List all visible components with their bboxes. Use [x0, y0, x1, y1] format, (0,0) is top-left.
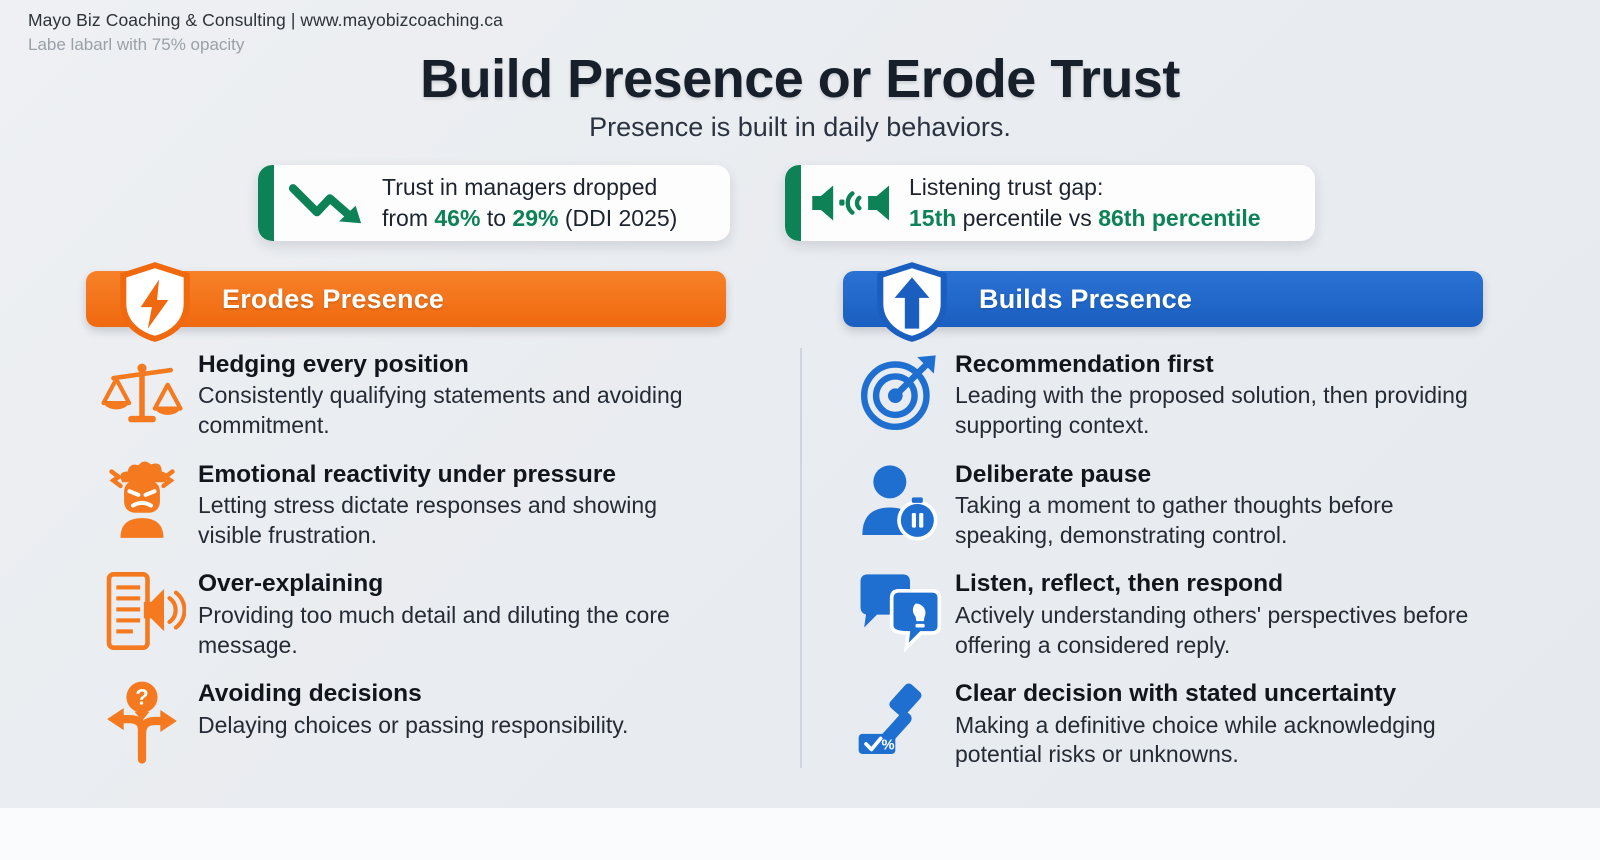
page-subtitle: Presence is built in daily behaviors.: [0, 112, 1600, 143]
stat-source: (DDI 2025): [558, 205, 677, 231]
list-item-title: Avoiding decisions: [198, 680, 628, 708]
list-item: Emotional reactivity under pressure Lett…: [86, 454, 726, 551]
column-divider: [800, 348, 802, 768]
balance-scale-icon: [86, 344, 198, 440]
person-pause-stopwatch-icon: [843, 454, 955, 550]
stat-value-to: 29%: [512, 205, 558, 231]
stat-card-trust-drop: Trust in managers dropped from 46% to 29…: [258, 165, 730, 241]
list-item-title: Over-explaining: [198, 570, 723, 598]
speech-bubbles-lightbulb-icon: [843, 563, 955, 659]
section-banner-label: Builds Presence: [979, 284, 1192, 315]
list-item: % Clear decision with stated uncertainty…: [843, 673, 1483, 770]
section-banner-erodes: Erodes Presence: [86, 271, 726, 327]
footer-strip: [0, 808, 1600, 860]
fork-road-question-icon: ?: [86, 673, 198, 769]
infographic-canvas: Mayo Biz Coaching & Consulting | www.may…: [0, 0, 1600, 860]
list-item: Recommendation first Leading with the pr…: [843, 344, 1483, 441]
shield-lightning-icon: [114, 259, 196, 345]
shield-arrow-up-icon: [871, 259, 953, 345]
list-item-title: Hedging every position: [198, 351, 723, 379]
stat-card-text: Listening trust gap: 15th percentile vs …: [909, 172, 1261, 233]
list-item-title: Recommendation first: [955, 351, 1480, 379]
page-title: Build Presence or Erode Trust: [0, 48, 1600, 110]
stat-line-1: Trust in managers dropped: [382, 174, 657, 200]
svg-text:?: ?: [135, 685, 148, 710]
list-item-description: Taking a moment to gather thoughts befor…: [955, 491, 1480, 550]
stat-line-2-prefix: from: [382, 205, 434, 231]
list-item-title: Emotional reactivity under pressure: [198, 461, 723, 489]
list-item-description: Letting stress dictate responses and sho…: [198, 491, 723, 550]
list-item-title: Clear decision with stated uncertainty: [955, 680, 1480, 708]
stat-value-high: 86th percentile: [1098, 205, 1260, 231]
list-item: Hedging every position Consistently qual…: [86, 344, 726, 441]
stat-card-accent-bar: [785, 165, 801, 241]
stat-mid: percentile vs: [956, 205, 1098, 231]
section-banner-builds: Builds Presence: [843, 271, 1483, 327]
list-item: ? Avoiding decisions Delaying choices or…: [86, 673, 726, 769]
list-item-body: Over-explaining Providing too much detai…: [198, 563, 723, 660]
erodes-presence-list: Hedging every position Consistently qual…: [86, 344, 726, 782]
list-item-description: Making a definitive choice while acknowl…: [955, 711, 1480, 770]
list-item-body: Clear decision with stated uncertainty M…: [955, 673, 1480, 770]
list-item-description: Consistently qualifying statements and a…: [198, 381, 723, 440]
list-item-body: Listen, reflect, then respond Actively u…: [955, 563, 1480, 660]
list-item-body: Deliberate pause Taking a moment to gath…: [955, 454, 1480, 551]
list-item-title: Listen, reflect, then respond: [955, 570, 1480, 598]
list-item-description: Leading with the proposed solution, then…: [955, 381, 1480, 440]
stat-mid: to: [480, 205, 512, 231]
stat-value-low: 15th: [909, 205, 956, 231]
trend-down-arrow-icon: [280, 175, 376, 231]
stat-card-listening-gap: Listening trust gap: 15th percentile vs …: [785, 165, 1315, 241]
target-arrow-icon: [843, 344, 955, 440]
list-item-body: Emotional reactivity under pressure Lett…: [198, 454, 723, 551]
angry-person-steam-icon: [86, 454, 198, 550]
list-item: Over-explaining Providing too much detai…: [86, 563, 726, 660]
stat-line-1: Listening trust gap:: [909, 174, 1103, 200]
document-megaphone-icon: [86, 563, 198, 659]
stat-card-accent-bar: [258, 165, 274, 241]
list-item-description: Providing too much detail and diluting t…: [198, 601, 723, 660]
builds-presence-list: Recommendation first Leading with the pr…: [843, 344, 1483, 783]
svg-text:%: %: [881, 738, 894, 754]
list-item-title: Deliberate pause: [955, 461, 1480, 489]
list-item: Listen, reflect, then respond Actively u…: [843, 563, 1483, 660]
list-item-description: Actively understanding others' perspecti…: [955, 601, 1480, 660]
list-item-description: Delaying choices or passing responsibili…: [198, 711, 628, 741]
stat-value-from: 46%: [434, 205, 480, 231]
list-item-body: Hedging every position Consistently qual…: [198, 344, 723, 441]
section-banner-label: Erodes Presence: [222, 284, 444, 315]
list-item-body: Avoiding decisions Delaying choices or p…: [198, 673, 628, 740]
stat-card-text: Trust in managers dropped from 46% to 29…: [382, 172, 677, 233]
speaker-volume-icon: [807, 175, 903, 231]
list-item: Deliberate pause Taking a moment to gath…: [843, 454, 1483, 551]
gavel-check-percent-icon: %: [843, 673, 955, 769]
list-item-body: Recommendation first Leading with the pr…: [955, 344, 1480, 441]
brand-name-and-url: Mayo Biz Coaching & Consulting | www.may…: [28, 8, 503, 33]
